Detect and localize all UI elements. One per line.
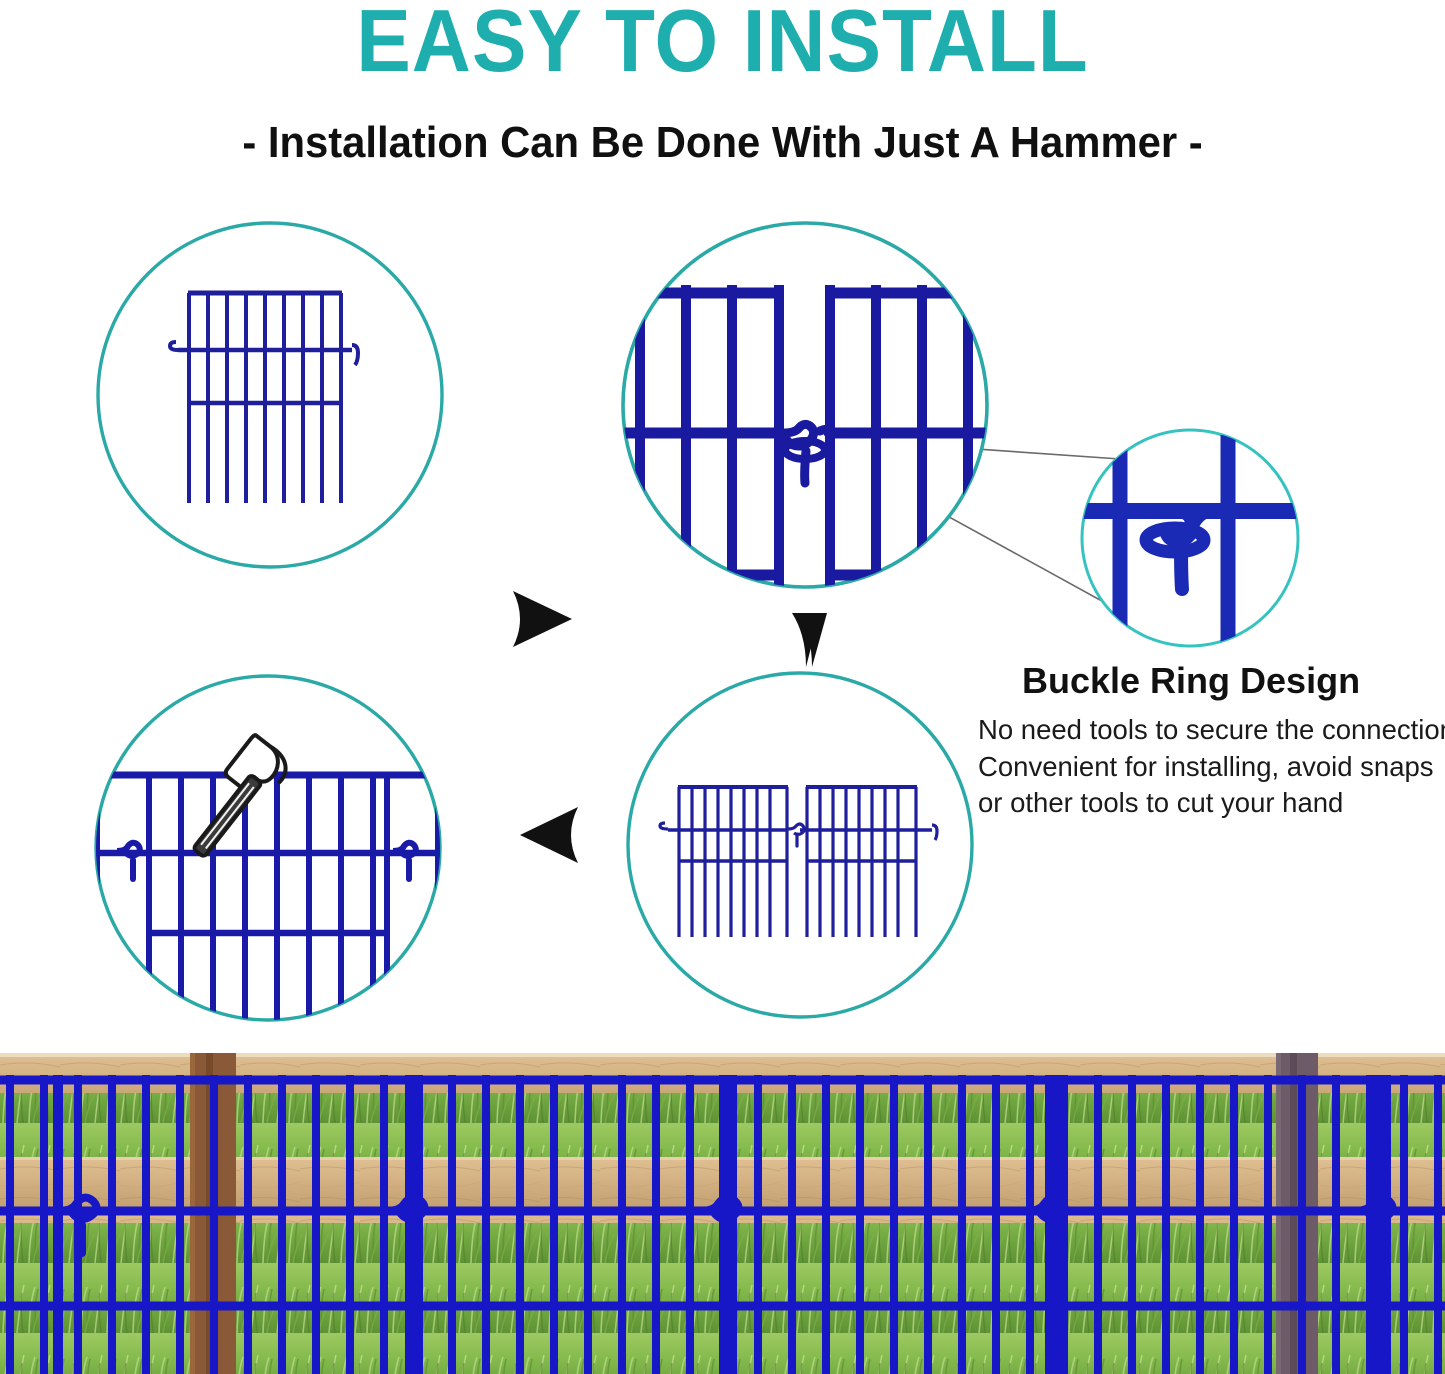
buckle-ring-magnifier (1080, 430, 1300, 646)
step-3-two-panels-joined (628, 673, 972, 1017)
description-line-1: No need tools to secure the connection (978, 712, 1445, 749)
page-title: EASY TO INSTALL (51, 0, 1395, 86)
arrow-down-step2-to-step3 (792, 613, 827, 667)
description-line-2: Convenient for installing, avoid snaps (978, 749, 1445, 786)
arrow-left-step3-to-step4 (520, 807, 578, 863)
page-subtitle: - Installation Can Be Done With Just A H… (36, 118, 1409, 168)
infographic-root: EASY TO INSTALL - Installation Can Be Do… (0, 0, 1445, 1374)
buckle-ring-description: No need tools to secure the connection C… (978, 712, 1445, 822)
install-steps-diagram (0, 215, 1445, 1053)
arrow-right-step1-to-step2 (513, 591, 572, 647)
installed-fence-photo (0, 1053, 1445, 1374)
step-2-hook-closeup (622, 223, 988, 587)
description-line-3: or other tools to cut your hand (978, 785, 1445, 822)
step-4-hammer-install (96, 676, 440, 1025)
buckle-ring-heading: Buckle Ring Design (1022, 660, 1360, 702)
step-1-single-panel (98, 223, 442, 567)
